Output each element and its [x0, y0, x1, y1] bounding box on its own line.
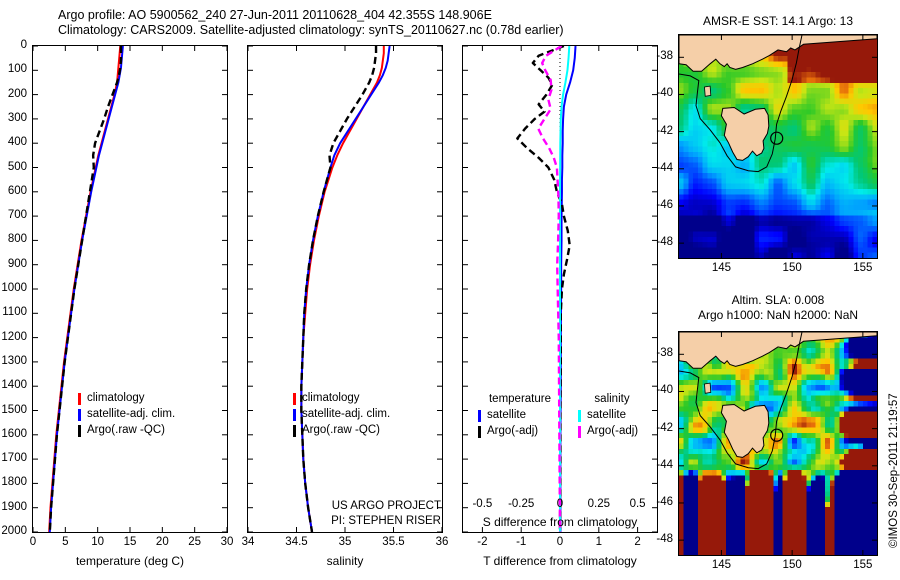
sst-map-raster	[679, 35, 877, 258]
sst-map-ytick: -38	[656, 50, 673, 62]
difference-legend-swatch	[478, 426, 481, 438]
difference-profile-plot	[463, 46, 657, 532]
salinity-profile-xaxis-label: salinity	[327, 554, 364, 568]
temperature-profile-ytick: 700	[8, 209, 27, 221]
temperature-legend-swatch	[78, 409, 81, 421]
difference-profile-xtick: -1	[516, 536, 526, 548]
difference-profile-xtick: 2	[634, 536, 640, 548]
sla-map-axes	[678, 331, 878, 556]
series-satellite-adj-clim-	[301, 46, 389, 532]
difference-legend-label: satellite	[587, 409, 626, 421]
temperature-profile-ytick: 1900	[1, 501, 27, 513]
temperature-profile-xtick: 25	[188, 536, 201, 548]
salinity-profile-xtick: 35.5	[382, 536, 404, 548]
salinity-profile-xtick: 35	[339, 536, 352, 548]
temperature-profile-ytick: 1400	[1, 379, 27, 391]
series-argo-raw-qc-	[301, 46, 376, 532]
salinity-profile-xtick: 34.5	[285, 536, 307, 548]
series-satellite-adj-clim-	[50, 46, 123, 532]
salinity-legend-swatch	[293, 393, 296, 405]
temperature-profile-ytick: 1600	[1, 428, 27, 440]
temperature-profile-ytick: 800	[8, 233, 27, 245]
temperature-profile-ytick: 0	[21, 39, 27, 51]
temperature-profile-xtick: 0	[30, 536, 36, 548]
series-temperature-satellite	[560, 46, 575, 532]
salinity-legend-label: climatology	[302, 392, 360, 404]
salinity-profile-xtick: 36	[436, 536, 449, 548]
figure-title-line-2: Climatology: CARS2009. Satellite-adjuste…	[58, 23, 564, 38]
difference-legend-label: Argo(-adj)	[487, 425, 538, 437]
difference-legend-label: Argo(-adj)	[587, 425, 638, 437]
difference-legend-label: satellite	[487, 409, 526, 421]
sst-map-ytick: -42	[656, 125, 673, 137]
difference-legend-header: temperature	[489, 393, 551, 405]
salinity-legend-swatch	[293, 409, 296, 421]
temperature-profile-xtick: 30	[221, 536, 234, 548]
difference-legend-swatch	[578, 426, 581, 438]
sst-map-ytick: -48	[656, 236, 673, 248]
temperature-profile-ytick: 1300	[1, 355, 27, 367]
temperature-profile-xtick: 20	[156, 536, 169, 548]
figure-title-line-1: Argo profile: AO 5900562_240 27-Jun-2011…	[58, 8, 492, 23]
temperature-profile-ytick: 1800	[1, 476, 27, 488]
sla-map-ytick: -40	[656, 384, 673, 396]
temperature-legend-label: Argo(.raw -QC)	[87, 424, 165, 436]
sst-map-xtick: 150	[783, 262, 802, 274]
temperature-profile-ytick: 500	[8, 161, 27, 173]
sla-map-xtick: 155	[853, 559, 872, 571]
series-climatology	[301, 46, 383, 532]
temperature-profile-ytick: 200	[8, 88, 27, 100]
sst-map-xtick: 145	[712, 262, 731, 274]
sla-map-title-line-1: Altim. SLA: 0.008	[732, 293, 825, 307]
imos-credit: ©IMOS 30-Sep-2011 21:19:57	[888, 393, 900, 548]
difference-legend-swatch	[578, 410, 581, 422]
difference-profile-xaxis-label: T difference from climatology	[483, 554, 637, 568]
difference-legend-header: salinity	[594, 393, 629, 405]
difference-legend-swatch	[478, 410, 481, 422]
difference-profile-xaxis-label-top: S difference from climatology	[483, 515, 638, 529]
salinity-profile-axes	[247, 45, 443, 533]
salinity-legend-label: Argo(.raw -QC)	[302, 424, 380, 436]
temperature-profile-ytick: 1000	[1, 282, 27, 294]
salinity-legend-label: satellite-adj. clim.	[302, 408, 390, 420]
temperature-profile-xtick: 10	[91, 536, 104, 548]
temperature-legend-label: climatology	[87, 392, 145, 404]
sla-map-ytick: -48	[656, 533, 673, 545]
temperature-legend-label: satellite-adj. clim.	[87, 408, 175, 420]
difference-profile-xtick: 1	[596, 536, 602, 548]
temperature-profile-ytick: 1100	[2, 306, 27, 318]
sst-map-ytick: -40	[656, 87, 673, 99]
salinity-profile-xtick: 34	[242, 536, 255, 548]
difference-profile-xtick-top: 0.5	[630, 498, 646, 510]
sst-map-axes	[678, 34, 878, 259]
series-argo-raw-qc-	[50, 46, 121, 532]
temperature-profile-ytick: 300	[8, 112, 27, 124]
sst-map-ytick: -44	[656, 162, 673, 174]
temperature-profile-ytick: 600	[8, 185, 27, 197]
sst-map-xtick: 155	[853, 262, 872, 274]
temperature-profile-xtick: 15	[124, 536, 137, 548]
sla-map-xtick: 145	[712, 559, 731, 571]
salinity-profile-plot	[248, 46, 442, 532]
difference-profile-xtick-top: 0	[557, 498, 563, 510]
temperature-profile-ytick: 2000	[1, 525, 27, 537]
temperature-profile-ytick: 900	[8, 258, 27, 270]
sla-map-xtick: 150	[783, 559, 802, 571]
temperature-legend-swatch	[78, 393, 81, 405]
us-argo-project-line-1: US ARGO PROJECT	[332, 500, 441, 512]
temperature-profile-ytick: 100	[8, 63, 27, 75]
temperature-profile-ytick: 1700	[1, 452, 27, 464]
temperature-profile-ytick: 1200	[1, 331, 27, 343]
difference-profile-xtick-top: -0.25	[508, 498, 534, 510]
sla-map-raster	[679, 332, 877, 555]
sst-map-title: AMSR-E SST: 14.1 Argo: 13	[703, 14, 853, 28]
difference-profile-xtick-top: -0.5	[472, 498, 492, 510]
difference-profile-xtick-top: 0.25	[588, 498, 610, 510]
difference-profile-xtick: -2	[477, 536, 487, 548]
sla-map-ytick: -44	[656, 459, 673, 471]
sla-map-ytick: -46	[656, 496, 673, 508]
temperature-profile-ytick: 1500	[1, 404, 27, 416]
temperature-profile-axes	[32, 45, 228, 533]
temperature-legend-swatch	[78, 425, 81, 437]
sla-map-ytick: -42	[656, 422, 673, 434]
difference-profile-axes	[462, 45, 658, 533]
temperature-profile-ytick: 400	[8, 136, 27, 148]
sst-map-ytick: -46	[656, 199, 673, 211]
sla-map-ytick: -38	[656, 347, 673, 359]
us-argo-project-line-2: PI: STEPHEN RISER	[331, 515, 441, 527]
series-salinity-argo-adj-	[538, 46, 561, 532]
temperature-profile-xtick: 5	[62, 536, 68, 548]
sla-map-title-line-2: Argo h1000: NaN h2000: NaN	[698, 308, 858, 322]
temperature-profile-plot	[33, 46, 227, 532]
difference-profile-xtick: 0	[557, 536, 563, 548]
salinity-legend-swatch	[293, 425, 296, 437]
temperature-profile-xaxis-label: temperature (deg C)	[76, 554, 184, 568]
